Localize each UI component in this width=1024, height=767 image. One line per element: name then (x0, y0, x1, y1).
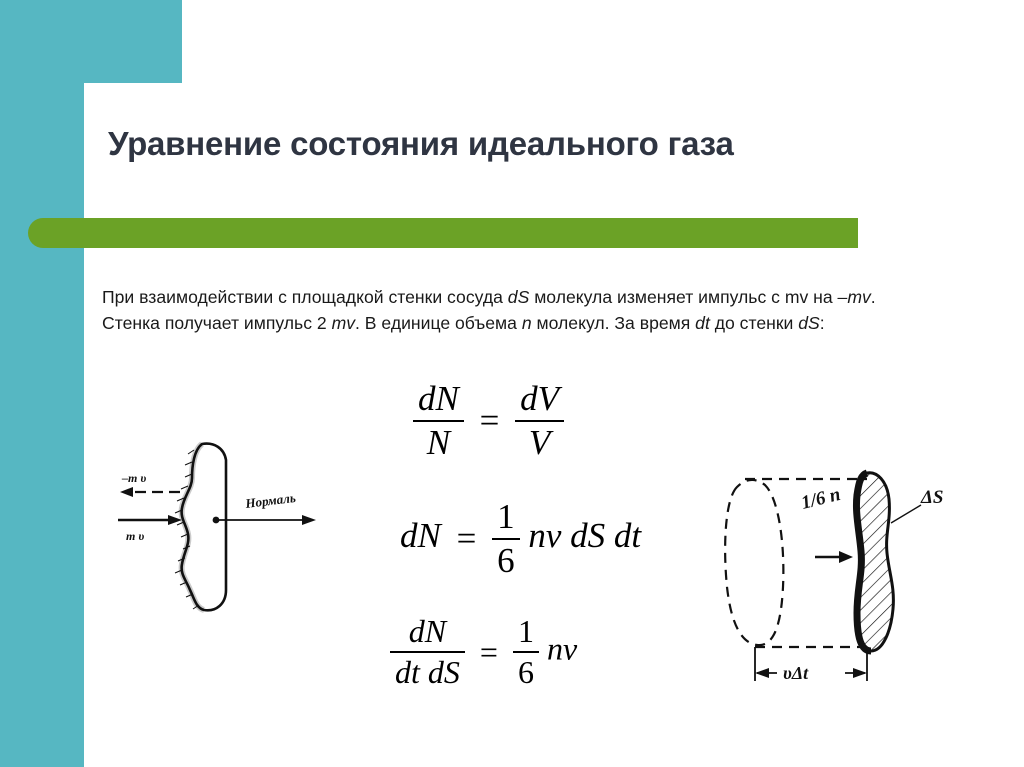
teal-sidebar-decoration (0, 0, 84, 767)
fraction-dn-dtds: dN dt dS (390, 613, 465, 691)
cylinder-back-face (725, 480, 783, 645)
velocity-direction-arrow (815, 551, 853, 563)
molecule-wall-collision-diagram: –m υ m υ Нормаль (110, 432, 340, 622)
fraction-numerator: dN (413, 379, 464, 422)
incoming-momentum-arrow (120, 487, 180, 497)
dimension-arrow-left (755, 668, 769, 678)
fraction-numerator: 1 (513, 613, 539, 653)
fraction-numerator: dV (515, 379, 564, 422)
body-emphasis-n: n (522, 313, 532, 333)
body-emphasis-dt: dt (695, 313, 710, 333)
formula-rhs: nv dS dt (528, 516, 641, 555)
body-text-segment: молекула изменяет импульс с mv на (529, 287, 837, 307)
volume-swept-diagram: 1/6 n ΔS υΔt (715, 437, 960, 687)
equals-sign: = (450, 519, 484, 559)
fraction-one-sixth: 1 6 (492, 497, 520, 581)
fraction-numerator: 1 (492, 497, 520, 540)
formula-lhs: dN (400, 516, 441, 555)
equals-sign: = (473, 634, 505, 671)
label-swept-length: υΔt (783, 663, 809, 683)
body-emphasis-ds2: dS (798, 313, 820, 333)
fraction-one-sixth: 1 6 (513, 613, 539, 691)
formula-rhs: nv (547, 630, 577, 666)
green-accent-bar (28, 218, 858, 248)
label-delta-s: ΔS (920, 487, 943, 508)
body-text-segment: молекул. За время (532, 313, 696, 333)
body-emphasis-ds: dS (508, 287, 530, 307)
label-incoming-momentum: –m υ (121, 471, 146, 485)
body-text-segment: до стенки (710, 313, 798, 333)
equals-sign: = (473, 401, 507, 441)
fraction-denominator: 6 (492, 540, 520, 581)
teal-top-block-decoration (0, 0, 182, 83)
fraction-numerator: dN (390, 613, 465, 653)
slide: Уравнение состояния идеального газа При … (0, 0, 1024, 767)
label-normal: Нормаль (244, 490, 297, 511)
formula-dn-over-n: dN N = dV V (413, 379, 564, 463)
page-title: Уравнение состояния идеального газа (108, 122, 898, 166)
body-emphasis-neg-mv: –mv (838, 287, 871, 307)
body-text-segment: : (820, 313, 825, 333)
fraction-denominator: dt dS (390, 653, 465, 691)
normal-vector-arrow (213, 515, 316, 525)
label-density-fraction: 1/6 n (799, 484, 843, 514)
label-outgoing-momentum: m υ (126, 529, 144, 543)
body-text-segment: . В единице объема (355, 313, 522, 333)
formula-flux: dN dt dS = 1 6 nv (390, 613, 577, 691)
fraction-dn-n: dN N (413, 379, 464, 463)
fraction-dv-v: dV V (515, 379, 564, 463)
body-paragraph: При взаимодействии с площадкой стенки со… (102, 284, 930, 337)
fraction-denominator: V (515, 422, 564, 463)
body-emphasis-mv: mv (332, 313, 355, 333)
body-text-segment: При взаимодействии с площадкой стенки со… (102, 287, 508, 307)
fraction-denominator: 6 (513, 653, 539, 691)
formula-dn-equals: dN = 1 6 nv dS dt (400, 497, 641, 581)
delta-s-leader-line (891, 505, 921, 523)
fraction-denominator: N (413, 422, 464, 463)
outgoing-momentum-arrow (118, 515, 182, 525)
dimension-arrow-right (853, 668, 867, 678)
